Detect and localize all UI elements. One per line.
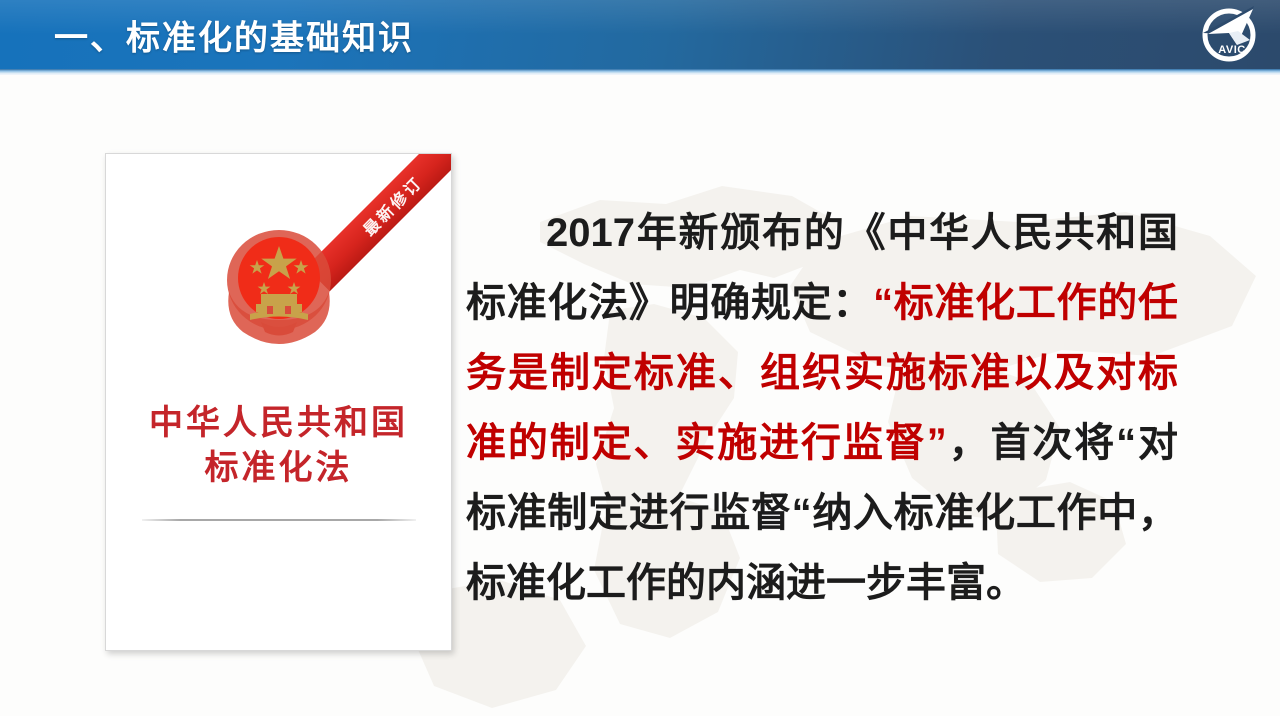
book-title-line-2: 标准化法: [106, 447, 451, 492]
emblem-wrapper: [106, 222, 451, 350]
body-paragraph: 2017年新颁布的《中华人民共和国标准化法》明确规定：“标准化工作的任务是制定标…: [466, 198, 1178, 618]
page-title: 一、标准化的基础知识: [54, 10, 414, 59]
header-underline: [0, 69, 1280, 75]
slide-header-bar: 一、标准化的基础知识 AVIC: [0, 0, 1280, 69]
avic-logo-text: AVIC: [1218, 44, 1245, 56]
book-title-line-1: 中华人民共和国: [106, 402, 451, 447]
book-title-block: 中华人民共和国 标准化法: [106, 402, 451, 492]
slide-canvas: 一、标准化的基础知识 AVIC 最新修订: [0, 0, 1280, 716]
book-title-divider: [142, 519, 416, 521]
avic-logo-icon: AVIC: [1198, 3, 1262, 67]
book-cover-image: 最新修订: [105, 153, 452, 651]
china-national-emblem-icon: [217, 222, 341, 350]
